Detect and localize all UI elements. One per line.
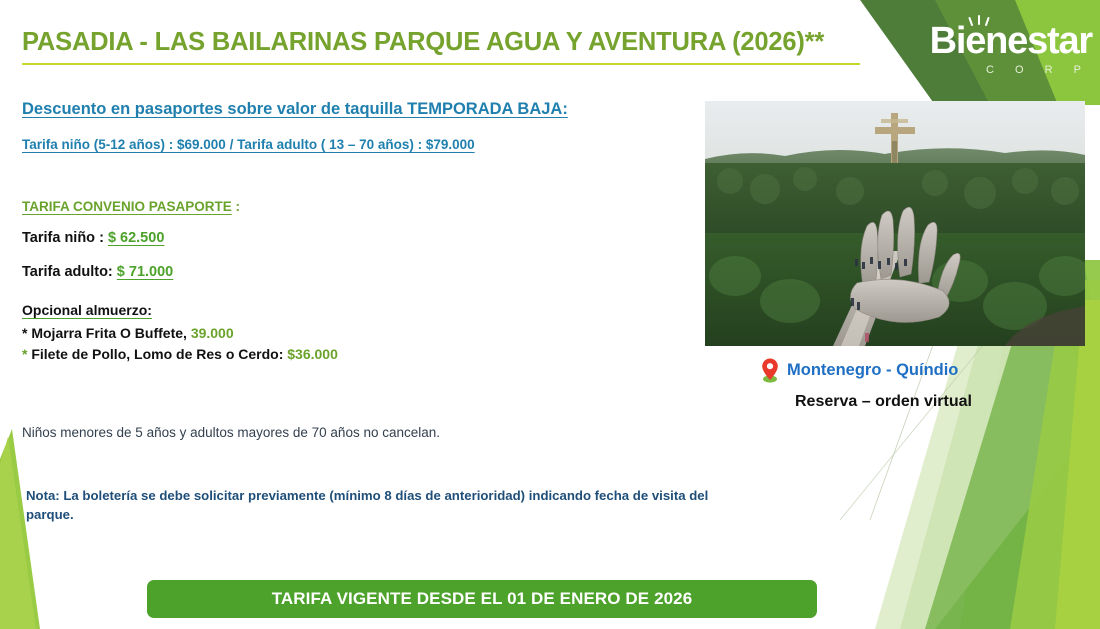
convenio-child-label: Tarifa niño : — [22, 230, 108, 246]
lunch-option-1-label: Mojarra Frita O Buffete, — [27, 325, 190, 341]
content-column: Descuento en pasaportes sobre valor de t… — [22, 100, 702, 367]
lunch-option-1-price: 39.000 — [191, 325, 234, 341]
sparkle-icon — [968, 13, 990, 27]
lunch-option-1: * Mojarra Frita O Buffete, 39.000 — [22, 325, 702, 341]
lunch-option-2-price: $36.000 — [287, 346, 338, 362]
convenio-heading-underlined: TARIFA CONVENIO PASAPORTE — [22, 199, 232, 214]
validity-banner: TARIFA VIGENTE DESDE EL 01 DE ENERO DE 2… — [147, 580, 817, 618]
lunch-option-2-label: Filete de Pollo, Lomo de Res o Cerdo: — [27, 346, 287, 362]
convenio-adult-price: $ 71.000 — [117, 264, 173, 280]
page-title: PASADIA - LAS BAILARINAS PARQUE AGUA Y A… — [22, 28, 862, 65]
validity-banner-text: TARIFA VIGENTE DESDE EL 01 DE ENERO DE 2… — [272, 589, 693, 609]
convenio-child-price: $ 62.500 — [108, 230, 164, 246]
convenio-heading: TARIFA CONVENIO PASAPORTE : — [22, 199, 702, 214]
reservation-note: Reserva – orden virtual — [795, 393, 972, 411]
convenio-adult-rate: Tarifa adulto: $ 71.000 — [22, 264, 702, 280]
lunch-heading: Opcional almuerzo: — [22, 302, 702, 318]
location-row: Montenegro - Quíndio — [760, 357, 958, 383]
convenio-heading-suffix: : — [232, 199, 240, 214]
slide-canvas: Bienestar C O R P PASADIA - LAS BAILARIN… — [0, 0, 1100, 629]
brand-logo: Bienestar C O R P — [930, 22, 1092, 76]
map-pin-icon — [760, 357, 780, 383]
logo-wordmark: Bienestar — [930, 22, 1092, 60]
location-city: Montenegro - Quíndio — [787, 361, 958, 380]
convenio-adult-label: Tarifa adulto: — [22, 264, 117, 280]
free-entry-note: Niños menores de 5 años y adultos mayore… — [22, 425, 440, 440]
public-rates-line: Tarifa niño (5-12 años) : $69.000 / Tari… — [22, 137, 702, 152]
discount-heading: Descuento en pasaportes sobre valor de t… — [22, 100, 702, 119]
decorative-wedge-left — [0, 429, 40, 629]
park-photo — [705, 101, 1085, 346]
booking-note: Nota: La boletería se debe solicitar pre… — [26, 486, 736, 524]
convenio-child-rate: Tarifa niño : $ 62.500 — [22, 230, 702, 246]
title-underline-rule — [22, 63, 860, 65]
page-title-text: PASADIA - LAS BAILARINAS PARQUE AGUA Y A… — [22, 28, 862, 57]
logo-corp-text: C O R P — [930, 64, 1090, 76]
lunch-option-2: * Filete de Pollo, Lomo de Res o Cerdo: … — [22, 346, 702, 362]
